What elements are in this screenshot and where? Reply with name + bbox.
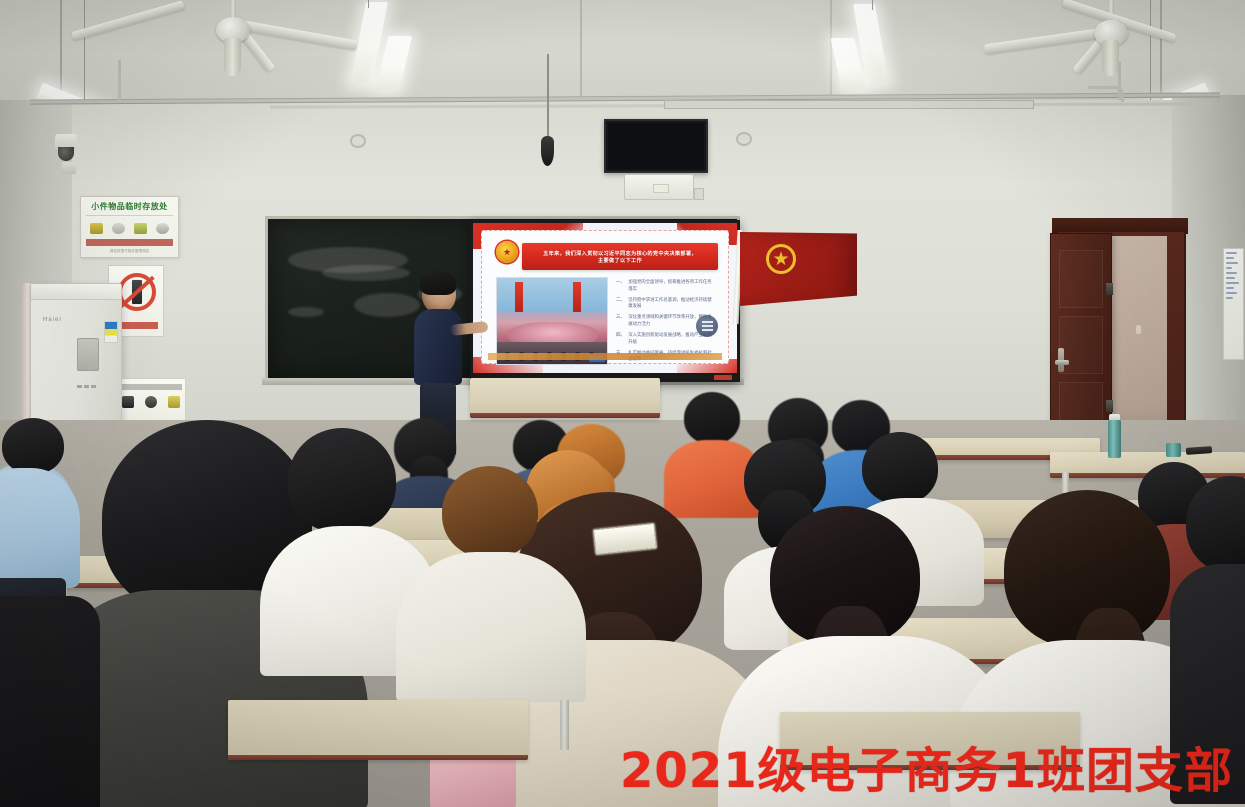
- photo-hall-background: [497, 278, 607, 312]
- ac-button[interactable]: [91, 385, 96, 388]
- conduit-riser: [118, 60, 121, 100]
- slide-title-banner: 五年来，我们深入贯彻以习近平同志为核心的党中央决策部署， 主要做了以下工作: [522, 243, 718, 270]
- bullet-text: 坚持稳中求进工作总基调，推动经济持续健康发展: [628, 297, 714, 310]
- poster-title-band: [120, 384, 182, 390]
- phone-icon: [122, 396, 134, 408]
- wall-speaker-icon: [350, 134, 366, 148]
- surveillance-camera: [62, 162, 76, 174]
- bullet-number: 一、: [616, 279, 625, 285]
- presenter-torso: [414, 309, 462, 385]
- energy-label: [104, 321, 118, 343]
- teacher-desk: [470, 378, 660, 418]
- presentation-slide: ★ 五年来，我们深入贯彻以习近平同志为核心的党中央决策部署， 主要做了以下工作: [473, 223, 737, 373]
- star-glyph: ★: [772, 250, 789, 269]
- bullet-number: 三、: [616, 314, 625, 320]
- flag-cloth: ★: [740, 232, 857, 306]
- item-icon: [134, 223, 147, 234]
- poster-footer: 请自觉遵守相关管理规定: [86, 249, 173, 254]
- party-emblem-icon: ★: [496, 241, 518, 263]
- item-icon: [90, 223, 103, 234]
- light-hanger-rod: [84, 0, 85, 106]
- door-handle[interactable]: [1055, 360, 1069, 365]
- ac-button-row[interactable]: [77, 375, 101, 379]
- slide-bullet: 二、 坚持稳中求进工作总基调，推动经济持续健康发展: [616, 297, 714, 310]
- poster-icon-row: [86, 219, 173, 237]
- wall-notice-sign: [1223, 248, 1244, 360]
- item-icon: [156, 223, 169, 234]
- poster-storage-notice: 小件物品临时存放处 请自觉遵守相关管理规定: [80, 196, 179, 258]
- presenter-hair: [420, 271, 456, 295]
- poster-red-band: [86, 239, 173, 246]
- watermark-text: 2021级电子商务1班团支部: [620, 731, 1233, 801]
- classroom-photo: 小件物品临时存放处 请自觉遵守相关管理规定 Haier: [0, 0, 1245, 807]
- speaker-grill: [653, 184, 669, 193]
- slide-title-line-2: 主要做了以下工作: [598, 257, 642, 264]
- door-hinge: [1106, 400, 1113, 412]
- thermos-flask[interactable]: [1108, 420, 1121, 458]
- divider: [86, 215, 173, 216]
- conduit-trunking: [664, 100, 1034, 109]
- flag-emblem-icon: ★: [766, 244, 796, 274]
- interactive-display-screen[interactable]: ★ 五年来，我们深入贯彻以习近平同志为核心的党中央决策部署， 主要做了以下工作: [470, 220, 740, 382]
- bullet-text: 加强党的全面领导，统筹推进各项工作任务落实: [628, 279, 714, 292]
- monitor-screen: [608, 123, 704, 169]
- bullet-number: 四、: [616, 332, 625, 338]
- cable-cover: [694, 188, 704, 200]
- watch-icon: [145, 396, 157, 408]
- conduit-elbow: [1088, 86, 1124, 102]
- slide-title-line-1: 五年来，我们深入贯彻以习近平同志为核心的党中央决策部署，: [543, 250, 697, 257]
- key-icon: [168, 396, 180, 408]
- poster-item-deposit: [116, 378, 186, 422]
- ac-display-panel: [77, 338, 99, 371]
- tea-cup[interactable]: [1166, 443, 1181, 457]
- document-seal-icon: [696, 315, 718, 337]
- desk: [228, 700, 528, 760]
- fan-motor-housing: [1102, 40, 1119, 76]
- ceiling-seam: [580, 0, 582, 100]
- photo-flag-icon: [515, 282, 523, 312]
- ac-top-vent: [31, 284, 121, 300]
- poster-icon-row: [117, 396, 185, 408]
- light-hanger-rod: [872, 0, 873, 10]
- ceiling-fan: [180, 0, 370, 110]
- star-glyph: ★: [503, 248, 511, 257]
- hanging-cable: [547, 54, 549, 140]
- photo-flag-icon: [573, 282, 581, 312]
- slide-photo: [496, 277, 608, 365]
- fan-blade: [984, 28, 1104, 55]
- slide-bullet: 一、 加强党的全面领导，统筹推进各项工作任务落实: [616, 279, 714, 292]
- youth-league-flag: ★: [735, 232, 857, 312]
- ac-button[interactable]: [84, 385, 89, 388]
- item-icon: [112, 223, 125, 234]
- wall-speaker-icon: [736, 132, 752, 146]
- hanging-sensor: [541, 136, 554, 166]
- bullet-number: 二、: [616, 297, 625, 303]
- slide-footer-decor: [488, 353, 722, 360]
- poster-title: 小件物品临时存放处: [86, 201, 173, 212]
- wall-mounted-monitor[interactable]: [604, 119, 708, 173]
- display-brand-badge: [714, 375, 732, 380]
- door-knob-icon: [1136, 325, 1141, 334]
- ac-brand-label: Haier: [43, 317, 62, 323]
- ac-button[interactable]: [77, 385, 82, 388]
- door-hinge: [1106, 283, 1113, 295]
- slide-content-frame: ★ 五年来，我们深入贯彻以习近平同志为核心的党中央决策部署， 主要做了以下工作: [481, 230, 729, 364]
- wall-speaker-box: [624, 174, 694, 200]
- fan-motor-housing: [224, 38, 241, 76]
